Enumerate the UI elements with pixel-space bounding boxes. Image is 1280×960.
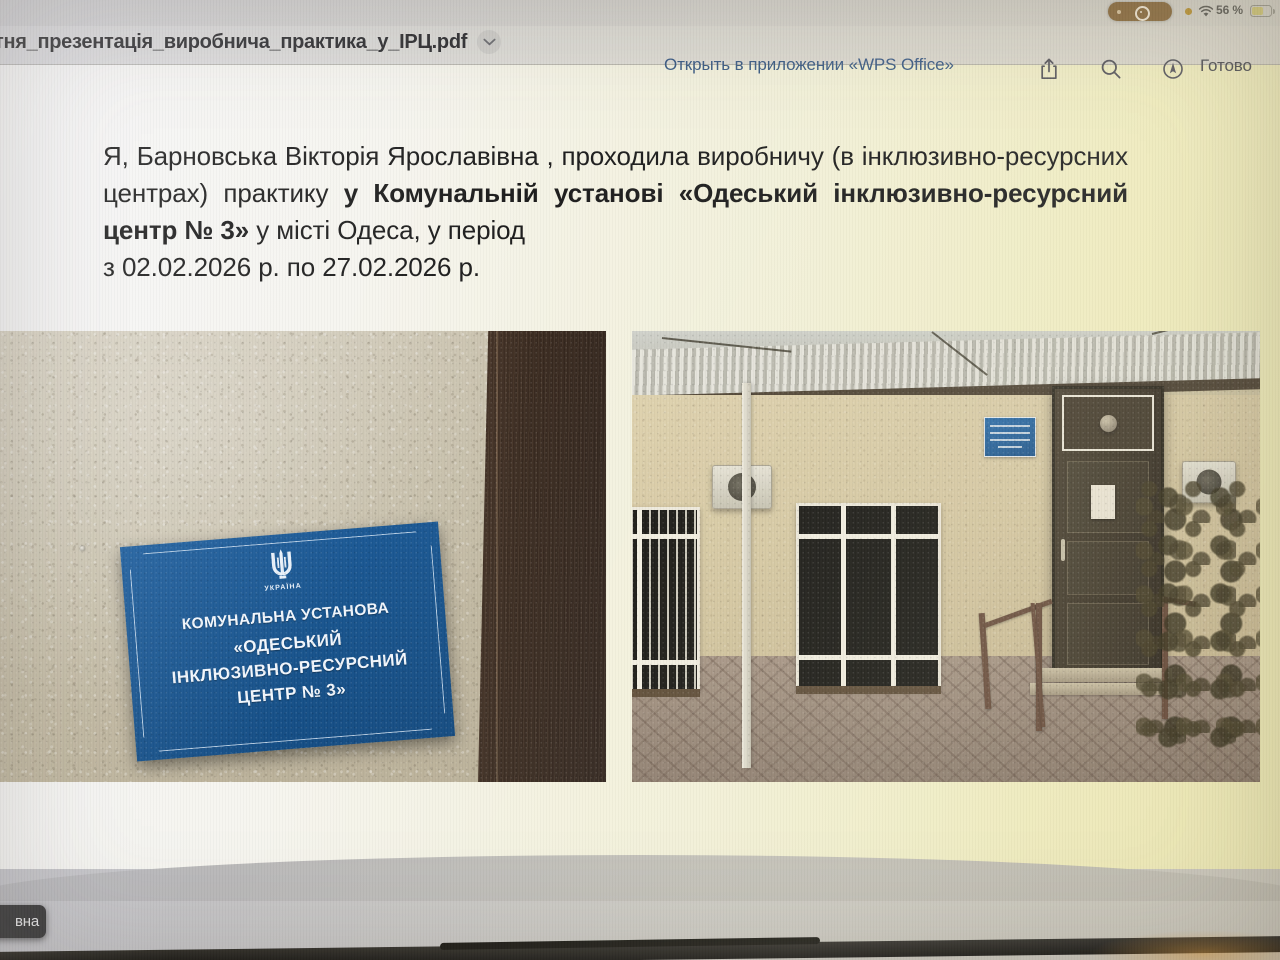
plate-text-line <box>998 446 1022 448</box>
pill-left-dot-icon <box>1117 10 1121 14</box>
screenshot-root: 56 % тня_презентація_виробнича_практика_… <box>0 0 1280 960</box>
window-sill <box>632 689 700 697</box>
background-light-reflection <box>1090 930 1280 960</box>
door-notice-paper <box>1091 485 1115 519</box>
facade-background <box>632 331 1260 782</box>
door-handle <box>1061 539 1065 561</box>
plate-text-line <box>990 439 1030 441</box>
floating-name-tag-label: вна <box>15 913 39 930</box>
window-transom <box>632 660 697 665</box>
record-indicator-icon <box>1135 6 1150 21</box>
slide-paragraph: Я, Барновська Вікторія Ярославівна , про… <box>103 138 1128 286</box>
chevron-down-glyph <box>483 38 496 46</box>
pdf-page-content[interactable]: Я, Барновська Вікторія Ярославівна , про… <box>0 64 1280 869</box>
window-transom <box>799 534 938 539</box>
privacy-indicator-dot-icon <box>1185 8 1192 15</box>
door-frame <box>478 331 606 782</box>
search-icon <box>1100 58 1122 80</box>
done-button[interactable]: Готово <box>1200 56 1252 76</box>
document-title-group[interactable]: тня_презентація_виробнича_практика_у_ІРЦ… <box>0 30 501 54</box>
wifi-icon <box>1198 5 1214 18</box>
paragraph-last-line: з 02.02.2026 р. по 27.02.2026 р. <box>103 249 1128 286</box>
open-in-app-button[interactable]: Открыть в приложении «WPS Office» <box>664 55 954 75</box>
screen-recording-pill-icon[interactable] <box>1108 2 1172 21</box>
battery-percentage-label: 56 % <box>1216 3 1243 17</box>
window-transom <box>799 655 938 660</box>
battery-fill <box>1252 7 1263 15</box>
document-title: тня_презентація_виробнича_практика_у_ІРЦ… <box>0 31 467 54</box>
wall-lamp-icon <box>1100 415 1117 432</box>
chevron-down-icon[interactable] <box>477 30 501 54</box>
window-main <box>796 503 941 689</box>
window-left <box>632 507 700 692</box>
battery-icon <box>1250 5 1272 17</box>
paragraph-part-2: у місті Одеса, у період <box>249 215 525 245</box>
markup-button[interactable] <box>1158 54 1188 84</box>
ios-status-bar: 56 % <box>0 0 1280 26</box>
institution-plaque: УКРАЇНА КОМУНАЛЬНА УСТАНОВА «ОДЕСЬКИЙ ІН… <box>120 522 455 762</box>
window-sill <box>796 686 941 694</box>
markup-pen-icon <box>1162 58 1184 80</box>
plate-text-line <box>990 432 1030 434</box>
wood-grain-texture <box>478 331 606 782</box>
search-button[interactable] <box>1096 54 1126 84</box>
plate-text-line <box>990 425 1030 427</box>
share-icon <box>1039 57 1059 81</box>
photo-building-entrance <box>632 331 1260 782</box>
photo-institution-plaque: УКРАЇНА КОМУНАЛЬНА УСТАНОВА «ОДЕСЬКИЙ ІН… <box>0 331 606 782</box>
plaque-screw-icon <box>80 546 85 551</box>
ukraine-trident-icon <box>267 547 296 583</box>
floating-name-tag[interactable]: вна <box>0 905 46 938</box>
quicklook-toolbar: тня_презентація_виробнича_практика_у_ІРЦ… <box>0 26 1280 65</box>
shrub-foliage <box>1136 481 1260 761</box>
drain-downpipe <box>742 383 751 768</box>
entrance-name-plate <box>984 417 1036 457</box>
window-transom <box>632 534 697 539</box>
share-button[interactable] <box>1034 54 1064 84</box>
